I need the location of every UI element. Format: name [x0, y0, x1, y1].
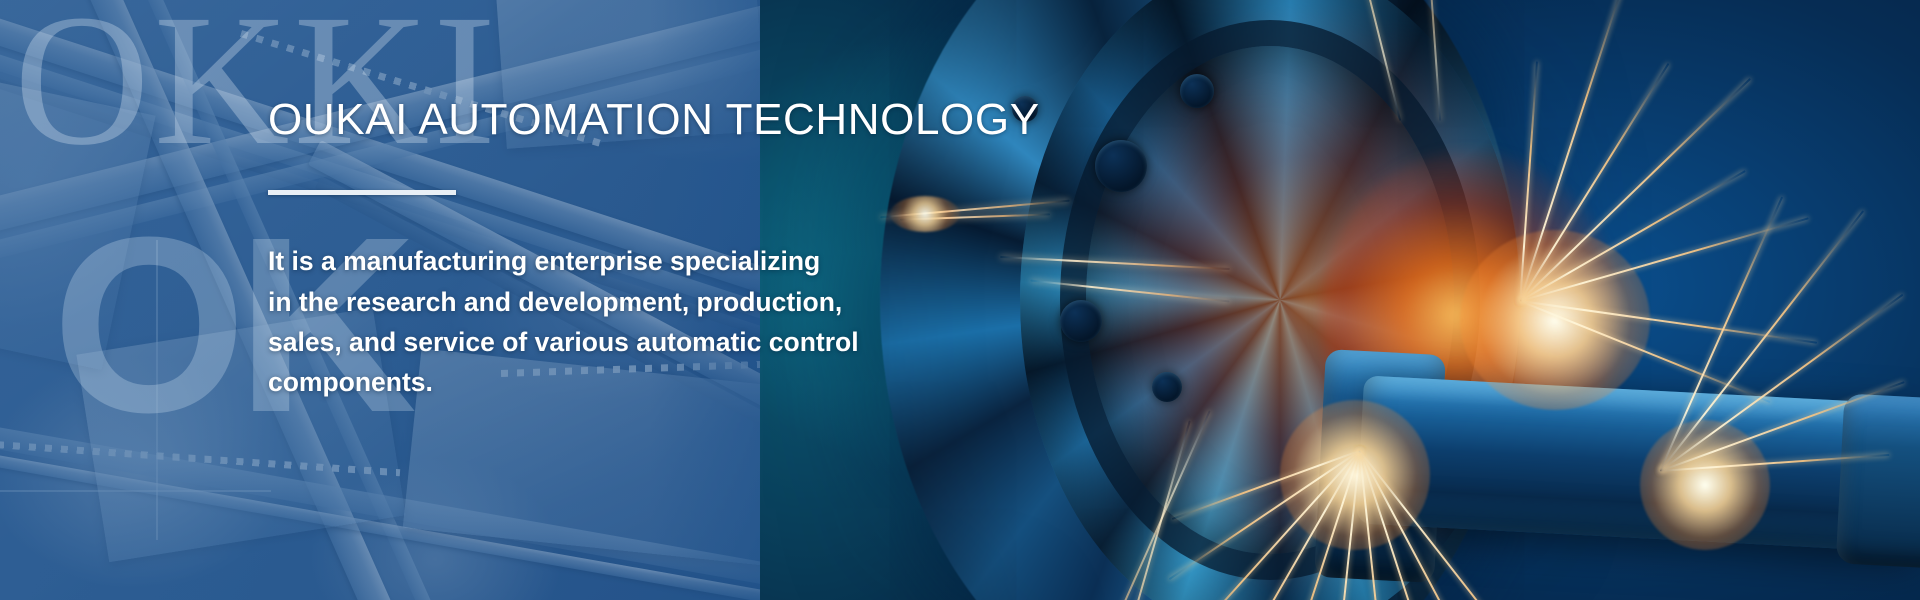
description-line: It is a manufacturing enterprise special…	[268, 241, 1028, 281]
company-hero-banner: OKKI OK OUKAI AUTOMATION TECHNOLOGY It i…	[0, 0, 1920, 600]
description-line: sales, and service of various automatic …	[268, 322, 1028, 362]
workpiece-shaft	[1357, 375, 1920, 552]
workpiece-end	[1836, 393, 1920, 572]
banner-content: OUKAI AUTOMATION TECHNOLOGY It is a manu…	[268, 96, 1028, 402]
chuck-bolt	[1152, 372, 1182, 402]
description-line: components.	[268, 362, 1028, 402]
title-divider	[268, 190, 456, 195]
page-title: OUKAI AUTOMATION TECHNOLOGY	[268, 96, 1028, 144]
chuck-bolt	[1095, 140, 1147, 192]
chuck-bolt	[1060, 300, 1102, 342]
company-description: It is a manufacturing enterprise special…	[268, 241, 1028, 402]
chuck-bolt	[1180, 74, 1214, 108]
description-line: in the research and development, product…	[268, 282, 1028, 322]
